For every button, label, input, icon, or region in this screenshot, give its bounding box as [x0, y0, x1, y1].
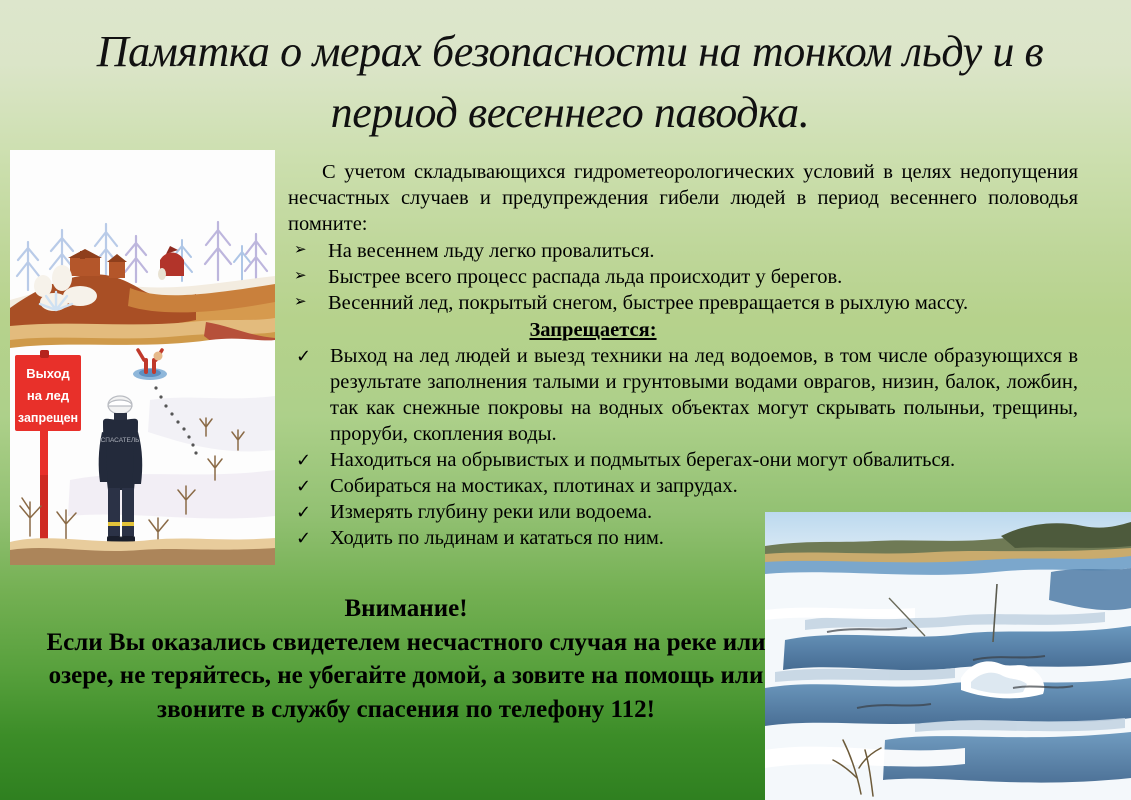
warning-line-4: телефону 112!	[499, 696, 655, 723]
warning-block: Внимание! Если Вы оказались свидетелем н…	[44, 592, 768, 726]
sign-line-1: Выход	[26, 366, 70, 381]
list-item-label: Ходить по льдинам и кататься по ним.	[330, 527, 664, 549]
list-item: ➢ На весеннем льду легко провалиться.	[288, 239, 1078, 265]
svg-text:СПАСАТЕЛЬ: СПАСАТЕЛЬ	[101, 437, 140, 444]
intro-paragraph: С учетом складывающихся гидрометеорологи…	[288, 160, 1078, 238]
checkmark-icon: ✓	[296, 474, 311, 500]
list-item: ✓ Находиться на обрывистых и подмытых бе…	[288, 448, 1078, 474]
list-item-label: Собираться на мостиках, плотинах и запру…	[330, 475, 738, 497]
warning-line-1: Если Вы оказались свидетелем несчастного…	[46, 629, 660, 656]
checkmark-icon: ✓	[296, 448, 311, 474]
remember-list: ➢ На весеннем льду легко провалиться. ➢ …	[288, 239, 1078, 317]
list-item-label: Измерять глубину реки или водоема.	[330, 501, 652, 523]
sign-line-3: запрещен	[18, 411, 78, 425]
poster-root: Памятка о мерах безопасности на тонком л…	[0, 0, 1131, 800]
checkmark-icon: ✓	[296, 344, 311, 370]
list-item-label: Быстрее всего процесс распада льда проис…	[328, 266, 842, 288]
arrow-bullet-icon: ➢	[294, 239, 307, 261]
list-item-label: Находиться на обрывистых и подмытых бере…	[330, 449, 955, 471]
arrow-bullet-icon: ➢	[294, 291, 307, 313]
list-item-label: На весеннем льду легко провалиться.	[328, 240, 655, 262]
list-item-label: Выход на лед людей и выезд техники на ле…	[330, 345, 1078, 445]
checkmark-icon: ✓	[296, 526, 311, 552]
arrow-bullet-icon: ➢	[294, 265, 307, 287]
list-item-label: Весенний лед, покрытый снегом, быстрее п…	[328, 292, 968, 314]
list-item: ✓ Выход на лед людей и выезд техники на …	[288, 344, 1078, 448]
list-item: ✓ Собираться на мостиках, плотинах и зап…	[288, 474, 1078, 500]
illustration-svg: Выход на лед запрещен СПАСАТЕЛЬ	[10, 150, 275, 565]
prohibited-heading: Запрещается:	[288, 318, 1078, 344]
checkmark-icon: ✓	[296, 500, 311, 526]
photo-svg	[765, 512, 1131, 800]
sign-line-2: на лед	[27, 388, 70, 403]
body-content: С учетом складывающихся гидрометеорологи…	[288, 160, 1078, 552]
winter-riverbank-illustration: Выход на лед запрещен СПАСАТЕЛЬ	[10, 150, 275, 565]
warning-heading: Внимание!	[44, 592, 768, 626]
list-item: ➢ Быстрее всего процесс распада льда про…	[288, 265, 1078, 291]
list-item: ➢ Весенний лед, покрытый снегом, быстрее…	[288, 291, 1078, 317]
spring-ice-drift-photo	[765, 512, 1131, 800]
page-title: Памятка о мерах безопасности на тонком л…	[60, 22, 1080, 143]
